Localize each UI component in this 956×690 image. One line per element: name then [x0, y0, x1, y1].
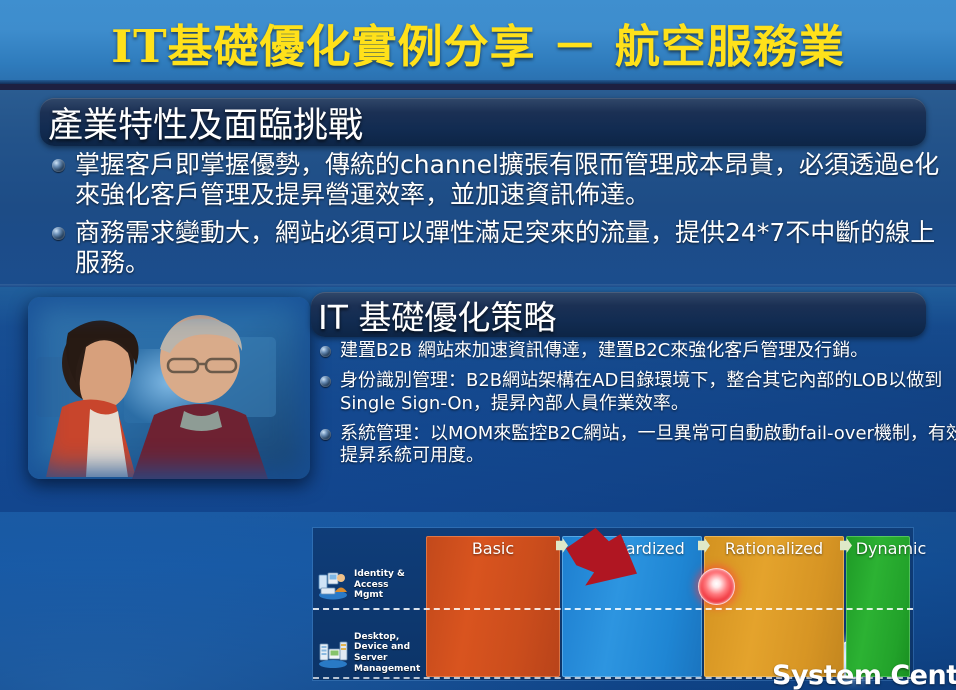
io-row-label-text: Identity &Access Mgmt: [354, 569, 420, 601]
desktop-device-server-icon: [317, 638, 349, 668]
io-row-label-column: Identity &Access Mgmt: [313, 528, 420, 680]
section1-bullet-list: 掌握客戶即掌握優勢，傳統的channel擴張有限而管理成本昂貴，必須透過e化來強…: [52, 150, 952, 286]
bullet-text: 身份識別管理：B2B網站架構在AD目錄環境下，整合其它內部的LOB以做到Sing…: [340, 370, 956, 416]
bullet-dot-icon: [52, 159, 65, 172]
io-stage-dynamic: Dynamic: [846, 536, 910, 677]
section2-bullet-list: 建置B2B 網站來加速資訊傳達，建置B2C來強化客戶管理及行銷。 身份識別管理：…: [320, 340, 956, 475]
io-stage-label: Basic: [426, 539, 560, 559]
io-stage-rationalized: Rationalized: [704, 536, 844, 677]
bullet-dot-icon: [52, 227, 65, 240]
red-orb-marker-icon: [698, 568, 735, 605]
bullet-text: 掌握客戶即掌握優勢，傳統的channel擴張有限而管理成本昂貴，必須透過e化來強…: [75, 150, 952, 210]
list-item: 商務需求變動大，網站必須可以彈性滿足突來的流量，提供24*7不中斷的線上服務。: [52, 218, 952, 278]
list-item: 系統管理：以MOM來監控B2C網站，一旦異常可自動啟動fail-over機制，有…: [320, 423, 956, 469]
bullet-dot-icon: [320, 376, 331, 387]
bullet-text: 建置B2B 網站來加速資訊傳達，建置B2C來強化客戶管理及行銷。: [340, 340, 956, 363]
team-photo: [28, 297, 310, 479]
bullet-text: 商務需求變動大，網站必須可以彈性滿足突來的流量，提供24*7不中斷的線上服務。: [75, 218, 952, 278]
list-item: 建置B2B 網站來加速資訊傳達，建置B2C來強化客戶管理及行銷。: [320, 340, 956, 363]
io-stage-label: Rationalized: [704, 539, 844, 559]
list-item: 身份識別管理：B2B網站架構在AD目錄環境下，整合其它內部的LOB以做到Sing…: [320, 370, 956, 416]
infrastructure-optimization-model: Identity &Access Mgmt: [313, 528, 913, 680]
io-row-identity-access: Identity &Access Mgmt: [317, 560, 420, 610]
system-center-wordmark: System Center: [772, 660, 956, 690]
team-photo-illustration: [28, 297, 310, 479]
io-stage-basic: Basic: [426, 536, 560, 677]
io-row-label-text: Desktop,Device andServerManagement: [354, 632, 420, 674]
bullet-text: 系統管理：以MOM來監控B2C網站，一旦異常可自動啟動fail-over機制，有…: [340, 423, 956, 469]
bullet-dot-icon: [320, 346, 331, 357]
section1-heading: 產業特性及面臨挑戰: [48, 98, 363, 146]
slide-canvas: IT基礎優化實例分享 － 航空服務業 產業特性及面臨挑戰 掌握客戶即掌握優勢，傳…: [0, 0, 956, 690]
io-row-desktop-device-server: Desktop,Device andServerManagement: [317, 624, 420, 682]
io-row-divider: [313, 608, 913, 610]
identity-access-icon: [317, 570, 349, 600]
io-stage-label: Dynamic: [838, 539, 944, 559]
slide-title: IT基礎優化實例分享 － 航空服務業: [0, 5, 956, 79]
bullet-dot-icon: [320, 429, 331, 440]
list-item: 掌握客戶即掌握優勢，傳統的channel擴張有限而管理成本昂貴，必須透過e化來強…: [52, 150, 952, 210]
section2-heading: IT 基礎優化策略: [318, 292, 556, 337]
